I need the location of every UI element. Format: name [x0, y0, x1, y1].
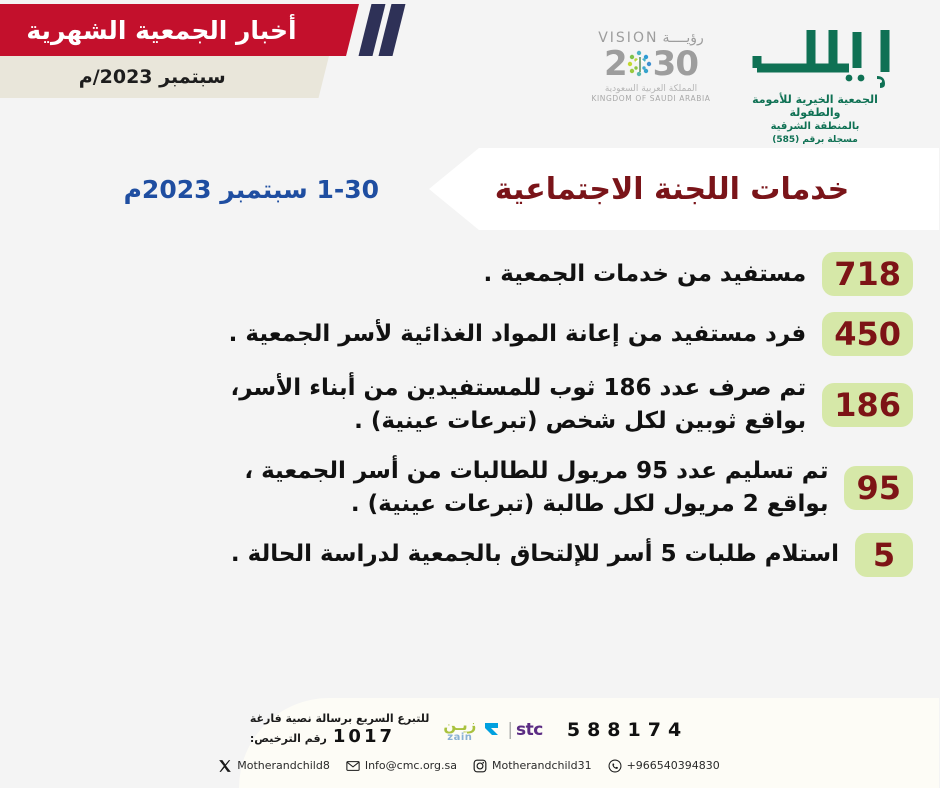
stat-description: استلام طلبات 5 أسر للإلتحاق بالجمعية لدر… [28, 538, 840, 571]
vision-sub-arabic: المملكة العربية السعودية [592, 84, 712, 94]
stat-badge-value: 186 [823, 383, 914, 427]
stc-label: stc [517, 720, 544, 740]
donate-instruction: للتبرع السريع برسالة نصية فارغة [251, 712, 431, 726]
vision-year: 2 [592, 47, 712, 81]
telecom-logos: | stc زيـن zain [444, 718, 543, 743]
stc-logo: | stc [485, 720, 544, 740]
news-banner: أخبار الجمعية الشهرية [0, 4, 360, 56]
elaf-wordmark-icon [736, 22, 896, 92]
zain-english-label: zain [444, 733, 477, 743]
license-number: 1017 [334, 726, 396, 749]
contact-twitter[interactable]: Motherandchild8 [219, 758, 331, 772]
footer-donate-row: 588174 | stc زيـن zain [0, 709, 940, 753]
stat-description: مستفيد من خدمات الجمعية . [28, 258, 807, 291]
page-title: خدمات اللجنة الاجتماعية [496, 172, 874, 207]
stat-description: تم تسليم عدد 95 مريول للطالبات من أسر ال… [28, 455, 829, 520]
x-twitter-icon [219, 758, 233, 772]
news-banner-label: أخبار الجمعية الشهرية [27, 16, 319, 45]
vision-digit-2: 2 [605, 47, 628, 81]
license-row: 1017 رقم الترخيص: [251, 726, 431, 749]
stat-badge-value: 5 [856, 533, 914, 577]
instagram-icon [474, 758, 488, 772]
contact-instagram[interactable]: Motherandchild31 [474, 758, 593, 772]
stat-description-line1: فرد مستفيد من إعانة المواد الغذائية لأسر… [230, 321, 808, 347]
whatsapp-icon [609, 758, 623, 772]
stat-description-line1: تم صرف عدد 186 ثوب للمستفيدين من أبناء ا… [232, 375, 808, 401]
date-banner-label: سبتمبر 2023/م [79, 66, 240, 88]
zain-logo: زيـن zain [444, 718, 477, 743]
contact-email[interactable]: Info@cmc.org.sa [347, 758, 458, 772]
palm-tree-emblem-icon [627, 49, 655, 79]
date-banner: سبتمبر 2023/م [0, 56, 330, 98]
zain-arabic-label: زيـن [444, 718, 477, 733]
elaf-subtitle-line2: بالمنطقة الشرقية [736, 121, 896, 132]
footer-contact-row: Motherandchild8 Info@cmc.org.sa [0, 753, 940, 777]
stat-badge-value: 718 [823, 252, 914, 296]
vision-sub-english: KINGDOM OF SAUDI ARABIA [592, 94, 712, 103]
stat-description: فرد مستفيد من إعانة المواد الغذائية لأسر… [28, 318, 807, 351]
stat-row: 718 مستفيد من خدمات الجمعية . [28, 252, 914, 296]
contact-email-label: Info@cmc.org.sa [366, 759, 458, 772]
infographic-page: أخبار الجمعية الشهرية سبتمبر 2023/م VISI… [0, 0, 940, 788]
sms-short-number: 588174 [568, 719, 689, 741]
email-icon [347, 758, 361, 772]
stat-description-line1: استلام طلبات 5 أسر للإلتحاق بالجمعية لدر… [232, 541, 840, 567]
elaf-logo: الجمعية الخيرية للأمومة والطفولة بالمنطق… [736, 22, 896, 145]
stat-badge-value: 95 [845, 466, 914, 510]
title-strip: خدمات اللجنة الاجتماعية 1-30 سبتمبر 2023… [0, 148, 940, 230]
stat-description-line2: بواقع ثوبين لكل شخص (تبرعات عينية) . [32, 405, 807, 438]
stat-row: 95 تم تسليم عدد 95 مريول للطالبات من أسر… [28, 455, 914, 520]
license-label: رقم الترخيص: [251, 732, 328, 746]
stat-description: تم صرف عدد 186 ثوب للمستفيدين من أبناء ا… [28, 372, 807, 437]
contact-whatsapp[interactable]: +966540394830 [609, 758, 721, 772]
footer: 588174 | stc زيـن zain [0, 698, 940, 788]
stat-description-line1: تم تسليم عدد 95 مريول للطالبات من أسر ال… [245, 458, 829, 484]
contact-instagram-label: Motherandchild31 [493, 759, 593, 772]
vision-2030-logo: VISION رؤيــــة 2 [592, 30, 712, 103]
stats-list: 718 مستفيد من خدمات الجمعية . 450 فرد مس… [0, 252, 940, 577]
elaf-registration-number: مسجلة برقم (585) [736, 135, 896, 145]
stat-badge-value: 450 [823, 312, 914, 356]
date-range-label: 1-30 سبتمبر 2023م [125, 175, 380, 204]
stc-mark-icon [485, 720, 505, 740]
contact-twitter-label: Motherandchild8 [238, 759, 331, 772]
elaf-subtitle-line1: الجمعية الخيرية للأمومة والطفولة [736, 93, 896, 119]
section-title-banner: خدمات اللجنة الاجتماعية [430, 148, 940, 230]
stc-divider: | [508, 720, 514, 740]
date-range-block: 1-30 سبتمبر 2023م [125, 148, 380, 230]
vision-digit-30: 30 [654, 47, 699, 81]
stat-description-line1: مستفيد من خدمات الجمعية . [485, 261, 808, 287]
stat-description-line2: بواقع 2 مريول لكل طالبة (تبرعات عينية) . [32, 488, 829, 521]
stat-row: 450 فرد مستفيد من إعانة المواد الغذائية … [28, 312, 914, 356]
header: أخبار الجمعية الشهرية سبتمبر 2023/م VISI… [0, 0, 940, 148]
stat-row: 186 تم صرف عدد 186 ثوب للمستفيدين من أبن… [28, 372, 914, 437]
stat-row: 5 استلام طلبات 5 أسر للإلتحاق بالجمعية ل… [28, 533, 914, 577]
contact-whatsapp-label: +966540394830 [628, 759, 721, 772]
donate-info: للتبرع السريع برسالة نصية فارغة 1017 رقم… [251, 712, 431, 748]
